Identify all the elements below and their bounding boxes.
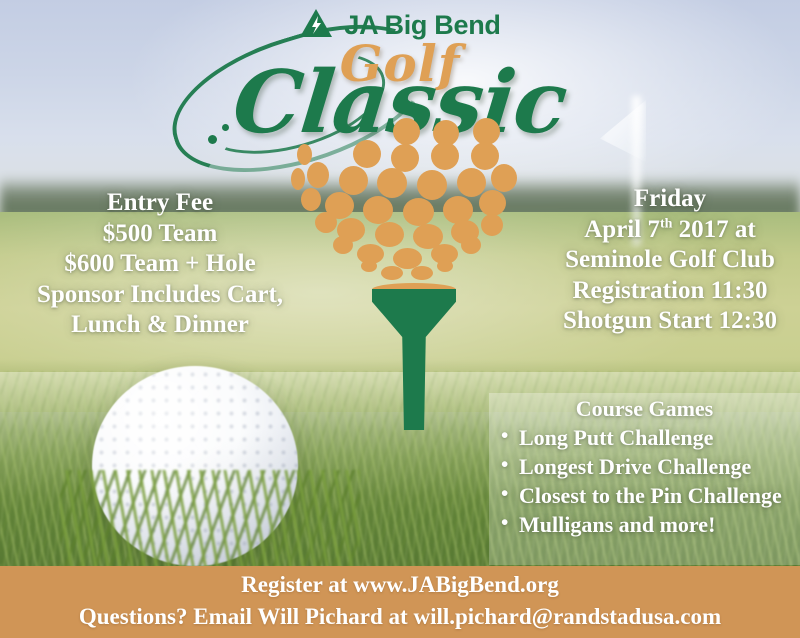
course-games-block: Course Games Long Putt Challenge Longest… xyxy=(489,394,800,539)
contact-email-line[interactable]: Questions? Email Will Pichard at will.pi… xyxy=(0,604,800,630)
event-date-suffix: th xyxy=(660,216,672,231)
list-item: Long Putt Challenge xyxy=(499,423,796,452)
dotted-golf-ball-graphic xyxy=(285,118,517,304)
event-start-time: Shotgun Start 12:30 xyxy=(540,306,800,337)
course-games-list: Long Putt Challenge Longest Drive Challe… xyxy=(489,423,800,539)
course-games-title: Course Games xyxy=(489,394,800,423)
entry-fee-heading: Entry Fee xyxy=(14,188,306,219)
event-details-block: Friday April 7th 2017 at Seminole Golf C… xyxy=(540,184,800,337)
event-date-year: 2017 at xyxy=(679,216,756,243)
foreground-grass xyxy=(60,470,360,580)
event-venue: Seminole Golf Club xyxy=(540,245,800,276)
list-item: Mulligans and more! xyxy=(499,510,796,539)
list-item: Longest Drive Challenge xyxy=(499,452,796,481)
entry-fee-line-2: $600 Team + Hole xyxy=(14,249,306,280)
register-link[interactable]: Register at www.JABigBend.org xyxy=(0,572,800,598)
entry-fee-line-4: Lunch & Dinner xyxy=(14,310,306,341)
event-registration-time: Registration 11:30 xyxy=(540,276,800,307)
entry-fee-line-3: Sponsor Includes Cart, xyxy=(14,280,306,311)
golf-classic-flyer: JA Big Bend Golf Classic xyxy=(0,0,800,638)
tee-body xyxy=(372,289,456,430)
event-day: Friday xyxy=(540,184,800,215)
event-date-day: April 7 xyxy=(584,216,660,243)
entry-fee-line-1: $500 Team xyxy=(14,219,306,250)
list-item: Closest to the Pin Challenge xyxy=(499,481,796,510)
event-date: April 7th 2017 at xyxy=(540,215,800,246)
golf-tee-graphic xyxy=(372,283,456,430)
entry-fee-block: Entry Fee $500 Team $600 Team + Hole Spo… xyxy=(14,188,306,341)
